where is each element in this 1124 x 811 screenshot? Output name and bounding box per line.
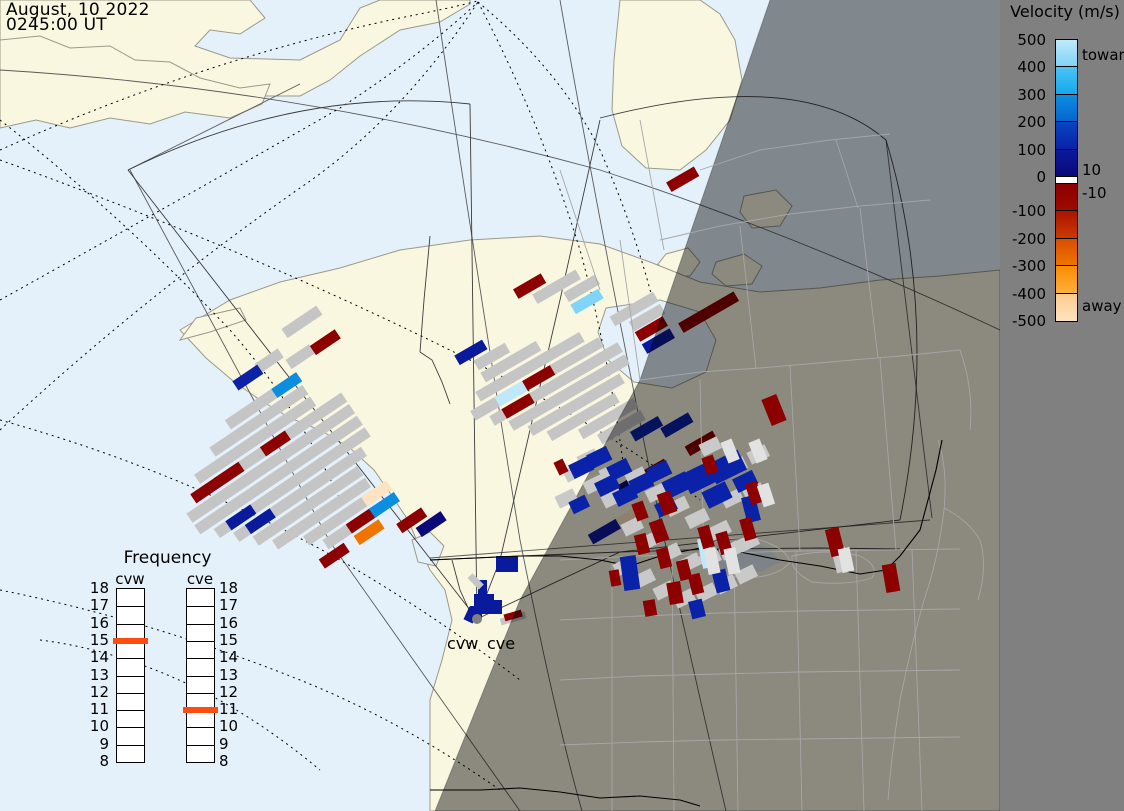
colorbar-tick-label: 500: [1017, 31, 1046, 49]
colorbar-segment: [1056, 184, 1077, 211]
colorbar-segment: [1056, 67, 1077, 94]
frequency-title: Frequency: [85, 548, 250, 568]
colorbar-tick-label: 200: [1017, 113, 1046, 131]
radar-site-marker: [472, 614, 482, 624]
frequency-tick-label: 17: [90, 596, 109, 614]
frequency-tick-label: 14: [219, 648, 238, 666]
colorbar-segment: [1056, 122, 1077, 149]
colorbar-segment: [1056, 266, 1077, 293]
frequency-gridline: [187, 641, 214, 642]
colorbar-gradient[interactable]: [1055, 39, 1078, 322]
frequency-gridline: [187, 693, 214, 694]
site-label-cvw: cvw: [447, 634, 478, 653]
frequency-gridline: [187, 624, 214, 625]
frequency-ticks-left: 18171615141312111098: [85, 588, 111, 763]
frequency-tick-label: 8: [219, 752, 229, 770]
colorbar-ticks: 5004003002001000-100-200-300-400-500: [1000, 39, 1050, 322]
time-title: 0245:00 UT: [6, 17, 107, 34]
frequency-tick-label: 12: [90, 683, 109, 701]
frequency-tick-label: 15: [219, 631, 238, 649]
frequency-header-cvw: cvw: [105, 570, 155, 588]
colorbar-toward-label: toward: [1082, 46, 1124, 64]
colorbar-segment: [1056, 95, 1077, 122]
frequency-tick-label: 12: [219, 683, 238, 701]
colorbar-tick-label: 300: [1017, 86, 1046, 104]
frequency-gridline: [117, 606, 144, 607]
frequency-tick-label: 11: [90, 700, 109, 718]
frequency-gridline: [187, 606, 214, 607]
frequency-panel: Frequency cvw cve 18171615141312111098 1…: [85, 548, 250, 788]
colorbar-segment: [1056, 294, 1077, 321]
frequency-gridline: [117, 745, 144, 746]
frequency-gridline: [117, 693, 144, 694]
frequency-tick-label: 16: [90, 614, 109, 632]
colorbar-side-labels: toward10-10away: [1080, 39, 1124, 322]
frequency-tick-label: 14: [90, 648, 109, 666]
frequency-tick-label: 17: [219, 596, 238, 614]
frequency-tick-label: 9: [99, 735, 109, 753]
frequency-bar-cvw[interactable]: [116, 588, 145, 763]
colorbar-segment: [1056, 211, 1077, 238]
frequency-gridline: [117, 676, 144, 677]
frequency-ticks-right: 18171615141312111098: [217, 588, 243, 763]
frequency-gridline: [187, 745, 214, 746]
colorbar-tick-label: -300: [1012, 257, 1046, 275]
frequency-gridline: [117, 658, 144, 659]
frequency-header-cve: cve: [175, 570, 225, 588]
colorbar-segment: [1056, 150, 1077, 177]
frequency-gridline: [117, 727, 144, 728]
colorbar-title: Velocity (m/s): [1006, 2, 1124, 21]
colorbar-tick-label: -500: [1012, 312, 1046, 330]
colorbar-panel: Velocity (m/s) 5004003002001000-100-200-…: [1000, 0, 1124, 811]
frequency-gridline: [117, 710, 144, 711]
frequency-gridline: [187, 658, 214, 659]
frequency-gridline: [117, 624, 144, 625]
frequency-tick-label: 15: [90, 631, 109, 649]
colorbar-tick-label: 100: [1017, 141, 1046, 159]
colorbar-segment: [1056, 177, 1077, 184]
colorbar-plus10-label: 10: [1082, 161, 1101, 179]
colorbar-tick-label: -100: [1012, 202, 1046, 220]
frequency-tick-label: 9: [219, 735, 229, 753]
frequency-bar-cve[interactable]: [186, 588, 215, 763]
frequency-tick-label: 18: [90, 579, 109, 597]
colorbar-away-label: away: [1082, 297, 1122, 315]
superdarn-velocity-map: August, 10 2022 0245:00 UT cvw cve Frequ…: [0, 0, 1124, 811]
colorbar-minus10-label: -10: [1082, 184, 1107, 202]
frequency-tick-label: 16: [219, 614, 238, 632]
frequency-marker-cve: [183, 707, 218, 713]
frequency-tick-label: 10: [219, 717, 238, 735]
frequency-tick-label: 13: [219, 666, 238, 684]
frequency-tick-label: 10: [90, 717, 109, 735]
frequency-tick-label: 11: [219, 700, 238, 718]
frequency-tick-label: 18: [219, 579, 238, 597]
colorbar-tick-label: 0: [1036, 168, 1046, 186]
site-label-cve: cve: [487, 634, 515, 653]
colorbar-tick-label: 400: [1017, 58, 1046, 76]
frequency-gridline: [187, 676, 214, 677]
frequency-tick-label: 8: [99, 752, 109, 770]
frequency-gridline: [187, 727, 214, 728]
colorbar-segment: [1056, 40, 1077, 67]
frequency-marker-cvw: [113, 638, 148, 644]
frequency-tick-label: 13: [90, 666, 109, 684]
colorbar-tick-label: -400: [1012, 285, 1046, 303]
map-panel[interactable]: August, 10 2022 0245:00 UT cvw cve Frequ…: [0, 0, 1000, 811]
colorbar-segment: [1056, 239, 1077, 266]
colorbar-tick-label: -200: [1012, 230, 1046, 248]
